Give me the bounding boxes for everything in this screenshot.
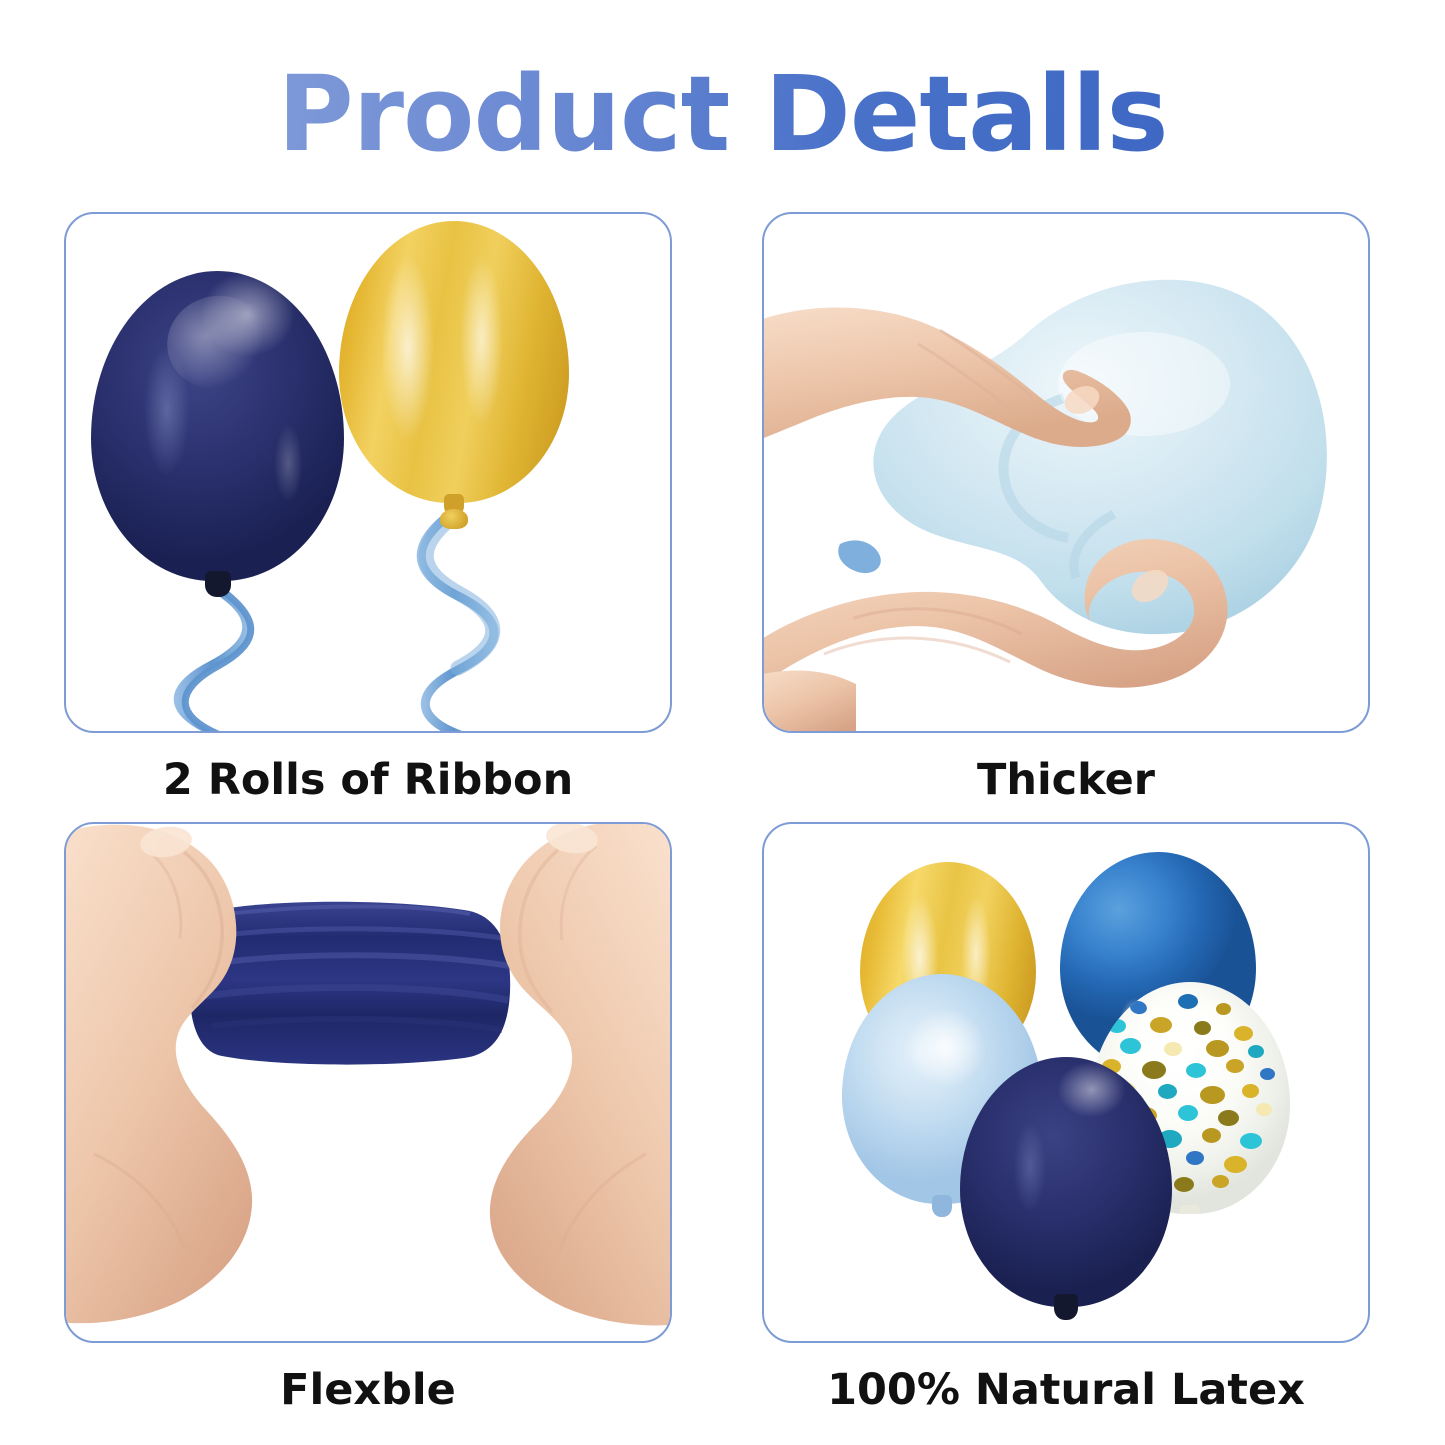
thicker-illustration <box>764 214 1370 733</box>
navy-balloon-body <box>91 271 344 581</box>
navy-balloon-neck <box>1054 1294 1078 1320</box>
balloon-neck <box>838 540 881 573</box>
navy-balloon <box>91 271 344 581</box>
card-thicker: Thicker <box>762 212 1370 805</box>
right-hand <box>490 824 672 1325</box>
two-hands-squeezing-light-blue-balloon-image <box>764 214 1368 731</box>
navy-balloon-highlight <box>157 285 278 400</box>
card-flexible: Flexble <box>64 822 672 1415</box>
card-ribbon-frame <box>64 212 672 733</box>
confetti-balloon-neck <box>1180 1205 1200 1214</box>
five-balloon-cluster-image <box>764 824 1368 1341</box>
card-ribbon-caption: 2 Rolls of Ribbon <box>64 755 672 805</box>
card-latex-frame <box>762 822 1370 1343</box>
card-flexible-frame <box>64 822 672 1343</box>
product-detail-grid: 2 Rolls of Ribbon <box>64 212 1369 1392</box>
flexible-illustration <box>66 824 672 1343</box>
light-blue-balloon-neck <box>932 1195 952 1217</box>
card-ribbon: 2 Rolls of Ribbon <box>64 212 672 805</box>
wrist <box>764 670 856 733</box>
left-hand <box>66 825 252 1324</box>
two-hands-stretching-navy-balloon-image <box>66 824 670 1341</box>
navy-balloon-neck <box>205 571 231 597</box>
navy-and-gold-balloons-with-curling-ribbons-image <box>66 214 670 731</box>
gold-balloon-knot <box>440 509 468 529</box>
page-title: Product Detalls <box>0 58 1445 170</box>
navy-balloon-stretched <box>190 902 510 1065</box>
gold-balloon <box>339 221 569 503</box>
gold-balloon-body <box>339 221 569 503</box>
card-thicker-frame <box>762 212 1370 733</box>
card-thicker-caption: Thicker <box>762 755 1370 805</box>
card-flexible-caption: Flexble <box>64 1365 672 1415</box>
card-latex: 100% Natural Latex <box>762 822 1370 1415</box>
navy-balloon <box>960 1057 1172 1307</box>
card-latex-caption: 100% Natural Latex <box>762 1365 1370 1415</box>
